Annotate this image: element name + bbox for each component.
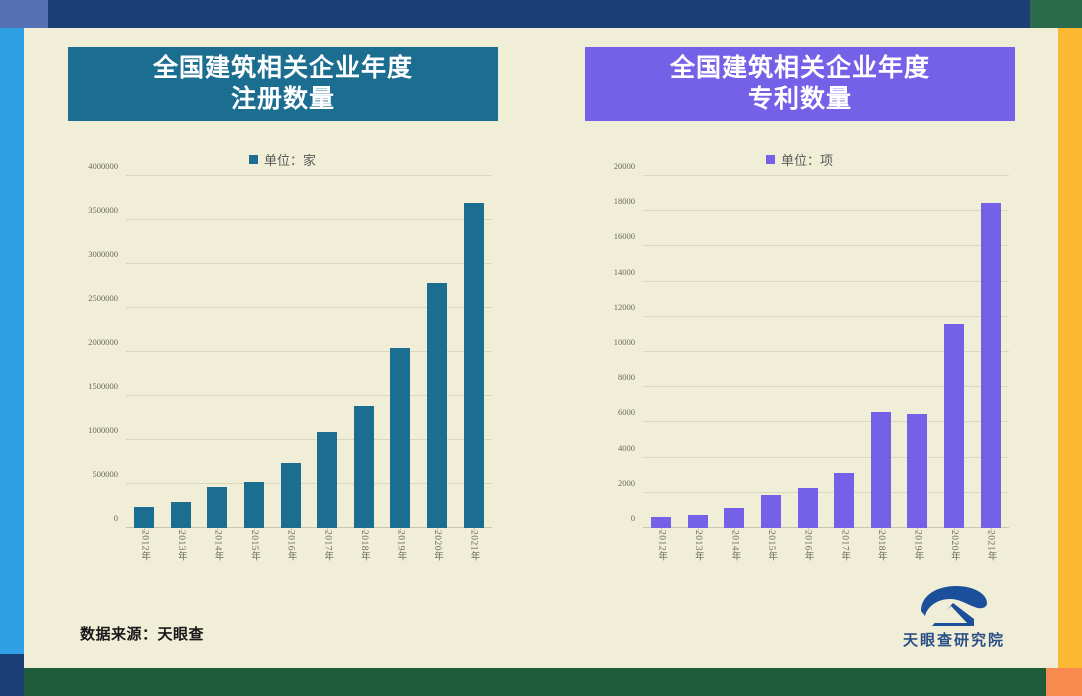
y-axis-tick-label: 2000 xyxy=(618,478,635,488)
y-axis-tick-label: 2500000 xyxy=(88,293,118,303)
x-label-cell: 2016年 xyxy=(272,530,309,588)
bar-cell xyxy=(826,176,863,528)
x-axis-tick-label: 2013年 xyxy=(691,530,705,588)
plot-area: 0200040006000800010000120001400016000180… xyxy=(643,176,1009,528)
x-axis-tick-label: 2014年 xyxy=(727,530,741,588)
y-axis-tick-label: 0 xyxy=(631,513,635,523)
y-axis-tick-label: 8000 xyxy=(618,372,635,382)
y-axis-tick-label: 12000 xyxy=(614,302,635,312)
y-axis-tick-label: 0 xyxy=(114,513,118,523)
x-label-cell: 2021年 xyxy=(455,530,492,588)
x-label-cell: 2013年 xyxy=(680,530,717,588)
x-axis-tick-label: 2012年 xyxy=(137,530,151,588)
bar[interactable] xyxy=(134,507,154,528)
y-axis-tick-label: 18000 xyxy=(614,196,635,206)
bar-cell xyxy=(899,176,936,528)
x-label-cell: 2016年 xyxy=(789,530,826,588)
bar-cell xyxy=(863,176,900,528)
bar-cell xyxy=(972,176,1009,528)
bar[interactable] xyxy=(390,348,410,528)
y-axis-tick-label: 500000 xyxy=(93,469,119,479)
x-axis-tick-label: 2017年 xyxy=(320,530,334,588)
x-label-cell: 2019年 xyxy=(382,530,419,588)
bar[interactable] xyxy=(427,283,447,528)
frame-bottom-right-square xyxy=(1046,668,1082,696)
bar[interactable] xyxy=(281,463,301,528)
x-label-cell: 2014年 xyxy=(199,530,236,588)
bar-cell xyxy=(936,176,973,528)
frame-top-bar xyxy=(24,0,1058,28)
x-axis-tick-label: 2018年 xyxy=(874,530,888,588)
x-axis-tick-label: 2020年 xyxy=(947,530,961,588)
bar-cell xyxy=(643,176,680,528)
x-axis-tick-label: 2020年 xyxy=(430,530,444,588)
frame-top-left-square xyxy=(0,0,48,28)
bar[interactable] xyxy=(464,203,484,528)
tianyancha-eye-logo-icon xyxy=(917,585,991,627)
y-axis-tick-label: 1500000 xyxy=(88,381,118,391)
x-axis-tick-label: 2013年 xyxy=(174,530,188,588)
x-axis-tick-label: 2016年 xyxy=(801,530,815,588)
bar-cell xyxy=(199,176,236,528)
chart-panel-patents: 全国建筑相关企业年度 专利数量 单位：项 0200040006000800010… xyxy=(541,28,1058,668)
y-axis-tick-label: 3500000 xyxy=(88,205,118,215)
x-axis-labels: 2012年2013年2014年2015年2016年2017年2018年2019年… xyxy=(643,530,1009,588)
bar[interactable] xyxy=(688,515,708,528)
x-label-cell: 2012年 xyxy=(643,530,680,588)
data-source-note: 数据来源：天眼查 xyxy=(80,623,204,644)
x-axis-tick-label: 2012年 xyxy=(654,530,668,588)
chart-title-line2: 注册数量 xyxy=(231,85,335,113)
bar[interactable] xyxy=(171,502,191,528)
y-axis-tick-label: 4000000 xyxy=(88,161,118,171)
frame-bottom-bar xyxy=(24,668,1052,696)
x-label-cell: 2021年 xyxy=(972,530,1009,588)
bar[interactable] xyxy=(244,482,264,528)
logo-text: 天眼查研究院 xyxy=(888,629,1020,650)
x-axis-labels: 2012年2013年2014年2015年2016年2017年2018年2019年… xyxy=(126,530,492,588)
bar-cell xyxy=(163,176,200,528)
y-axis-tick-label: 2000000 xyxy=(88,337,118,347)
y-axis-tick-label: 20000 xyxy=(614,161,635,171)
bar-cell xyxy=(382,176,419,528)
x-label-cell: 2019年 xyxy=(899,530,936,588)
bar-cell xyxy=(455,176,492,528)
bar-series xyxy=(126,176,492,528)
y-axis-tick-label: 14000 xyxy=(614,267,635,277)
bar-cell xyxy=(126,176,163,528)
chart-title-line2: 专利数量 xyxy=(748,85,852,113)
x-axis-tick-label: 2015年 xyxy=(764,530,778,588)
infographic-content: 全国建筑相关企业年度 注册数量 单位：家 0500000100000015000… xyxy=(24,28,1058,668)
frame-right-bar xyxy=(1058,28,1082,668)
x-label-cell: 2012年 xyxy=(126,530,163,588)
bar[interactable] xyxy=(798,488,818,528)
x-axis-tick-label: 2017年 xyxy=(837,530,851,588)
chart-title-line1: 全国建筑相关企业年度 xyxy=(153,54,413,82)
chart-panel-registrations: 全国建筑相关企业年度 注册数量 单位：家 0500000100000015000… xyxy=(24,28,541,668)
x-axis-tick-label: 2016年 xyxy=(284,530,298,588)
y-axis-tick-label: 3000000 xyxy=(88,249,118,259)
bar[interactable] xyxy=(944,324,964,528)
frame-left-bar xyxy=(0,28,24,672)
frame-top-right-square xyxy=(1030,0,1082,28)
bar-cell xyxy=(309,176,346,528)
bar-cell xyxy=(753,176,790,528)
x-axis-tick-label: 2019年 xyxy=(910,530,924,588)
chart-plot-registrations: 0500000100000015000002000000250000030000… xyxy=(68,176,498,588)
x-axis-tick-label: 2021年 xyxy=(984,530,998,588)
bar-cell xyxy=(272,176,309,528)
frame-left-foot-square xyxy=(0,654,24,696)
bar[interactable] xyxy=(651,517,671,528)
chart-plot-patents: 0200040006000800010000120001400016000180… xyxy=(585,176,1015,588)
chart-title-patents: 全国建筑相关企业年度 专利数量 xyxy=(585,47,1015,121)
x-label-cell: 2015年 xyxy=(753,530,790,588)
y-axis-tick-label: 4000 xyxy=(618,443,635,453)
x-axis-tick-label: 2021年 xyxy=(467,530,481,588)
bar[interactable] xyxy=(724,508,744,528)
bar-cell xyxy=(789,176,826,528)
x-label-cell: 2014年 xyxy=(716,530,753,588)
bar-cell xyxy=(716,176,753,528)
x-axis-tick-label: 2018年 xyxy=(357,530,371,588)
bar[interactable] xyxy=(207,487,227,528)
x-label-cell: 2018年 xyxy=(863,530,900,588)
legend-label: 单位：项 xyxy=(781,150,833,169)
legend-swatch-icon xyxy=(249,155,258,164)
x-label-cell: 2013年 xyxy=(163,530,200,588)
bar[interactable] xyxy=(981,203,1001,528)
legend-swatch-icon xyxy=(766,155,775,164)
x-label-cell: 2018年 xyxy=(346,530,383,588)
bar-cell xyxy=(346,176,383,528)
y-axis-tick-label: 1000000 xyxy=(88,425,118,435)
y-axis-tick-label: 16000 xyxy=(614,231,635,241)
y-axis-tick-label: 10000 xyxy=(614,337,635,347)
bar-cell xyxy=(680,176,717,528)
chart-title-line1: 全国建筑相关企业年度 xyxy=(670,54,930,82)
bar-cell xyxy=(236,176,273,528)
bar[interactable] xyxy=(871,412,891,528)
x-label-cell: 2020年 xyxy=(936,530,973,588)
legend-label: 单位：家 xyxy=(264,150,316,169)
tianyancha-logo: 天眼查研究院 xyxy=(888,585,1020,650)
bar[interactable] xyxy=(907,414,927,528)
bar[interactable] xyxy=(761,495,781,528)
chart-title-registrations: 全国建筑相关企业年度 注册数量 xyxy=(68,47,498,121)
x-axis-tick-label: 2019年 xyxy=(393,530,407,588)
x-label-cell: 2017年 xyxy=(309,530,346,588)
bar[interactable] xyxy=(354,406,374,528)
bar[interactable] xyxy=(317,432,337,528)
x-label-cell: 2015年 xyxy=(236,530,273,588)
bar[interactable] xyxy=(834,473,854,528)
bar-cell xyxy=(419,176,456,528)
x-axis-tick-label: 2015年 xyxy=(247,530,261,588)
x-label-cell: 2020年 xyxy=(419,530,456,588)
x-axis-tick-label: 2014年 xyxy=(210,530,224,588)
bar-series xyxy=(643,176,1009,528)
plot-area: 0500000100000015000002000000250000030000… xyxy=(126,176,492,528)
y-axis-tick-label: 6000 xyxy=(618,407,635,417)
x-label-cell: 2017年 xyxy=(826,530,863,588)
